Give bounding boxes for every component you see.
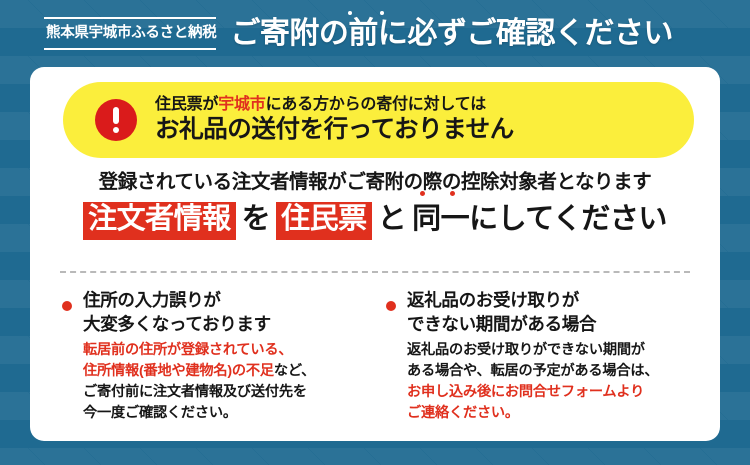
alert-text: 住民票が宇城市にある方からの寄付に対しては お礼品の送付を行っておりません bbox=[155, 96, 514, 144]
statement-dotted-text: 同一 bbox=[412, 203, 469, 235]
statement-dotted-term: 同一 bbox=[412, 203, 469, 236]
alert-line-2: お礼品の送付を行っておりません bbox=[155, 117, 514, 144]
detail-text-black: 今一度ご確認ください。 bbox=[83, 405, 237, 421]
column-heading-line-1: 住所の入力誤りが bbox=[83, 289, 368, 313]
statement-line-2: 注文者情報 を 住民票 と 同一 にしてください bbox=[83, 202, 667, 239]
emphasis-dot-icon bbox=[420, 191, 425, 196]
emphasis-dot-icon bbox=[380, 11, 384, 15]
column-heading-line-1: 返礼品のお受け取りが bbox=[407, 289, 692, 313]
detail-line: ある場合や、転居の予定がある場合は、 bbox=[407, 361, 692, 382]
highlight-term-residence-certificate: 住民票 bbox=[276, 202, 372, 239]
brand-block: 熊本県宇城市ふるさと納税 bbox=[44, 17, 216, 50]
statement-line-1: 登録されている注文者情報がご寄附の際の控除対象者となります bbox=[30, 170, 720, 194]
detail-line: 返礼品のお受け取りができない期間が bbox=[407, 340, 692, 361]
alert-line1-prefix: 住民票が bbox=[155, 96, 218, 113]
section-divider bbox=[60, 271, 690, 273]
header-title-wrap: ご寄附の前に必ずご確認ください bbox=[230, 19, 673, 49]
notice-column-address-errors: 住所の入力誤りが 大変多くなっております 転居前の住所が登録されている、 住所情… bbox=[62, 289, 368, 424]
column-detail: 転居前の住所が登録されている、 住所情報(番地や建物名)の不足など、 ご寄付前に… bbox=[83, 340, 368, 424]
notice-card: 住民票が宇城市にある方からの寄付に対しては お礼品の送付を行っておりません 登録… bbox=[30, 67, 720, 441]
bullet-dot-icon bbox=[62, 301, 72, 311]
detail-text-red: 住所情報(番地や建物名)の不足 bbox=[83, 363, 274, 379]
detail-line: 転居前の住所が登録されている、 bbox=[83, 340, 368, 361]
detail-line: ご連絡ください。 bbox=[407, 403, 692, 424]
statement-tail-prefix: と bbox=[372, 203, 413, 236]
exclamation-bar bbox=[113, 107, 119, 124]
statement-tail-suffix: にしてください bbox=[469, 203, 667, 236]
notice-column-delivery-unavailable: 返礼品のお受け取りが できない期間がある場合 返礼品のお受け取りができない期間が… bbox=[386, 289, 692, 424]
detail-text-red: 転居前の住所が登録されている、 bbox=[83, 342, 292, 358]
alert-line1-suffix: にある方からの寄付に対しては bbox=[266, 96, 486, 113]
detail-line: 今一度ご確認ください。 bbox=[83, 403, 368, 424]
emphasis-dot-icon bbox=[450, 191, 455, 196]
furusato-notice-banner: 熊本県宇城市ふるさと納税 ご寄附の前に必ずご確認ください 住民票が宇城市にある方… bbox=[0, 0, 750, 465]
detail-text-red: ご連絡ください。 bbox=[407, 405, 519, 421]
brand-rule-bottom bbox=[44, 48, 216, 50]
detail-line: お申し込み後にお問合せフォームより bbox=[407, 382, 692, 403]
detail-line: ご寄付前に注文者情報及び送付先を bbox=[83, 382, 368, 403]
page-title: ご寄附の前に必ずご確認ください bbox=[230, 19, 673, 49]
detail-text-black: ある場合や、転居の予定がある場合は、 bbox=[407, 363, 658, 379]
detail-text-black: ご寄付前に注文者情報及び送付先を bbox=[83, 384, 307, 400]
exclamation-dot bbox=[113, 127, 119, 133]
bullet-dot-icon bbox=[386, 301, 396, 311]
detail-text-red: お申し込み後にお問合せフォームより bbox=[407, 384, 644, 400]
alert-line-1: 住民票が宇城市にある方からの寄付に対しては bbox=[155, 96, 514, 114]
column-body: 住所の入力誤りが 大変多くなっております 転居前の住所が登録されている、 住所情… bbox=[83, 289, 368, 424]
exclamation-circle-icon bbox=[95, 99, 137, 141]
detail-text-black: など、 bbox=[274, 363, 315, 379]
alert-banner: 住民票が宇城市にある方からの寄付に対しては お礼品の送付を行っておりません bbox=[63, 82, 694, 158]
column-heading-line-2: 大変多くなっております bbox=[83, 313, 368, 337]
brand-name: 熊本県宇城市ふるさと納税 bbox=[44, 19, 216, 48]
notice-columns: 住所の入力誤りが 大変多くなっております 転居前の住所が登録されている、 住所情… bbox=[62, 289, 692, 424]
column-detail: 返礼品のお受け取りができない期間が ある場合や、転居の予定がある場合は、 お申し… bbox=[407, 340, 692, 424]
column-body: 返礼品のお受け取りが できない期間がある場合 返礼品のお受け取りができない期間が… bbox=[407, 289, 692, 424]
emphasis-dot-icon bbox=[348, 11, 352, 15]
alert-line1-highlight: 宇城市 bbox=[218, 96, 265, 113]
column-heading-line-2: できない期間がある場合 bbox=[407, 313, 692, 337]
statement-block: 登録されている注文者情報がご寄附の際の控除対象者となります 注文者情報 を 住民… bbox=[30, 170, 720, 240]
banner-header: 熊本県宇城市ふるさと納税 ご寄附の前に必ずご確認ください bbox=[0, 0, 750, 67]
detail-line: 住所情報(番地や建物名)の不足など、 bbox=[83, 361, 368, 382]
detail-text-black: 返礼品のお受け取りができない期間が bbox=[407, 342, 645, 358]
statement-connector: を bbox=[236, 203, 277, 236]
highlight-term-orderer-info: 注文者情報 bbox=[83, 202, 236, 239]
